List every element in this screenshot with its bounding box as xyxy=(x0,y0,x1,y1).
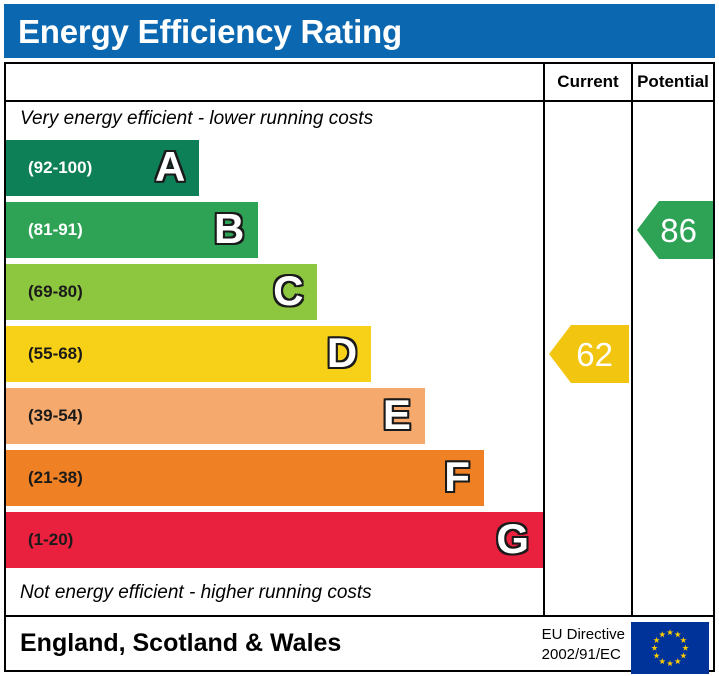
band-letter-g: G xyxy=(496,518,529,560)
potential-rating-arrow: 86 xyxy=(637,201,713,259)
column-header-current: Current xyxy=(545,64,631,100)
band-row-b: (81-91)B xyxy=(6,202,258,258)
band-bars-container: (92-100)A(81-91)B(69-80)C(55-68)D(39-54)… xyxy=(6,140,543,580)
band-range-c: (69-80) xyxy=(6,282,83,302)
chart-title-banner: Energy Efficiency Rating xyxy=(4,4,715,58)
band-row-e: (39-54)E xyxy=(6,388,425,444)
column-divider-current xyxy=(543,64,545,615)
band-letter-f: F xyxy=(444,456,470,498)
band-range-a: (92-100) xyxy=(6,158,92,178)
energy-efficiency-rating-chart: Energy Efficiency Rating Current Potenti… xyxy=(0,0,719,676)
header-row-divider xyxy=(6,100,713,102)
band-row-d: (55-68)D xyxy=(6,326,371,382)
current-rating-value: 62 xyxy=(576,338,629,371)
band-range-b: (81-91) xyxy=(6,220,83,240)
footer-directive: EU Directive 2002/91/EC xyxy=(542,625,625,666)
band-range-g: (1-20) xyxy=(6,530,73,550)
column-divider-potential xyxy=(631,64,633,615)
band-range-d: (55-68) xyxy=(6,344,83,364)
chart-footer: England, Scotland & Wales EU Directive 2… xyxy=(4,617,715,672)
band-row-g: (1-20)G xyxy=(6,512,543,568)
band-letter-c: C xyxy=(273,270,303,312)
directive-line-2: 2002/91/EC xyxy=(542,645,625,665)
caption-top: Very energy efficient - lower running co… xyxy=(20,108,373,130)
band-range-f: (21-38) xyxy=(6,468,83,488)
band-row-f: (21-38)F xyxy=(6,450,484,506)
band-row-c: (69-80)C xyxy=(6,264,317,320)
current-rating-arrow: 62 xyxy=(549,325,629,383)
page-title: Energy Efficiency Rating xyxy=(4,15,402,48)
caption-bottom: Not energy efficient - higher running co… xyxy=(20,582,372,604)
band-letter-e: E xyxy=(383,394,411,436)
eu-flag-icon xyxy=(631,622,709,674)
column-header-potential: Potential xyxy=(633,64,713,100)
band-letter-b: B xyxy=(214,208,244,250)
band-range-e: (39-54) xyxy=(6,406,83,426)
band-letter-d: D xyxy=(327,332,357,374)
potential-rating-value: 86 xyxy=(660,214,713,247)
ratings-table: Current Potential Very energy efficient … xyxy=(4,62,715,617)
band-row-a: (92-100)A xyxy=(6,140,199,196)
footer-region-label: England, Scotland & Wales xyxy=(6,629,341,658)
directive-line-1: EU Directive xyxy=(542,625,625,645)
band-letter-a: A xyxy=(155,146,185,188)
